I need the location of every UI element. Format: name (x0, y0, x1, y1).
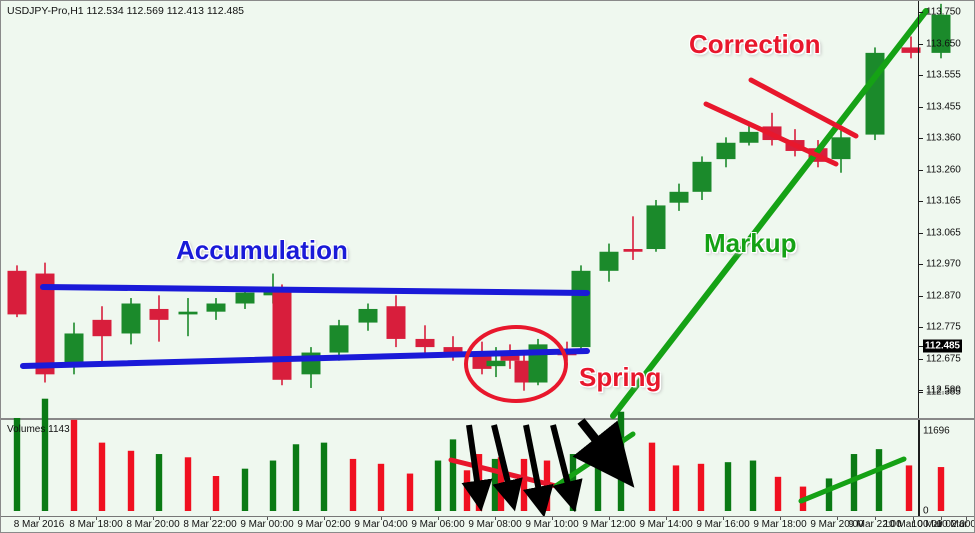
price-axis-label: 113.165 (926, 196, 961, 207)
time-axis-label: 9 Mar 12:00 (582, 519, 635, 530)
price-axis-label: 113.260 (926, 165, 961, 176)
annotation-correction[interactable]: Correction (689, 29, 820, 60)
volume-bar (99, 443, 105, 511)
candlestick (717, 137, 736, 167)
candlestick (273, 284, 292, 385)
volume-bar (826, 478, 832, 511)
price-axis-label: 113.360 (926, 133, 961, 144)
volume-bar (42, 399, 48, 511)
time-axis-label: 9 Mar 16:00 (696, 519, 749, 530)
price-axis-label: 113.650 (926, 39, 961, 50)
price-tick (918, 233, 923, 234)
price-tick (918, 327, 923, 328)
time-axis-label: 9 Mar 02:00 (297, 519, 350, 530)
time-axis-label: 10 Mar 04:00 (937, 519, 975, 530)
volume-bar (350, 459, 356, 511)
volume-bar (185, 457, 191, 511)
annotation-markup[interactable]: Markup (704, 228, 796, 259)
price-axis[interactable]: 113.750113.650113.555113.455113.360113.2… (918, 1, 975, 418)
time-axis-label: 9 Mar 04:00 (354, 519, 407, 530)
chart-title: USDJPY-Pro,H1 112.534 112.569 112.413 11… (7, 5, 244, 17)
price-tick (918, 264, 923, 265)
candlestick (572, 265, 591, 352)
volume-bar (750, 461, 756, 511)
volume-bar (498, 457, 504, 511)
candlestick (359, 304, 378, 331)
price-tick (918, 170, 923, 171)
trading-chart-window: USDJPY-Pro,H1 112.534 112.569 112.413 11… (0, 0, 975, 533)
price-axis-label: 112.870 (926, 291, 961, 302)
price-tick (918, 44, 923, 45)
price-tick (918, 107, 923, 108)
candlestick (600, 244, 619, 282)
time-axis-label: 9 Mar 14:00 (639, 519, 692, 530)
volume-bar (378, 464, 384, 511)
time-axis[interactable]: 8 Mar 20168 Mar 18:008 Mar 20:008 Mar 22… (1, 516, 975, 533)
volume-bar (476, 454, 482, 511)
price-axis-line (918, 1, 919, 418)
candlestick (207, 298, 226, 320)
time-axis-label: 8 Mar 18:00 (69, 519, 122, 530)
price-axis-label: 113.065 (926, 228, 961, 239)
price-plot-area[interactable] (1, 1, 918, 420)
volume-axis-label: 0 (923, 506, 928, 517)
volume-bar (242, 469, 248, 511)
candlestick (93, 306, 112, 366)
volume-bar (128, 451, 134, 511)
price-tick (918, 75, 923, 76)
volume-bar (293, 444, 299, 511)
volume-bar (775, 477, 781, 511)
volume-bar (156, 454, 162, 511)
price-tick (918, 12, 923, 13)
volume-bar (673, 465, 679, 511)
volume-axis-label: 11696 (923, 426, 950, 437)
candlestick (670, 184, 689, 211)
candlestick (529, 339, 548, 385)
candlestick (473, 342, 492, 375)
annotation-accumulation[interactable]: Accumulation (176, 235, 348, 266)
price-tick (918, 201, 923, 202)
candlestick (866, 47, 885, 140)
current-price-label: 112.485 (923, 340, 962, 353)
time-axis-label: 9 Mar 06:00 (411, 519, 464, 530)
price-axis-label: 112.385 (926, 387, 961, 398)
candlestick (832, 129, 851, 173)
price-axis-label: 113.555 (926, 70, 961, 81)
accumulation-upper-trendline[interactable] (43, 287, 587, 293)
volume-bar (213, 476, 219, 511)
volume-bar (698, 464, 704, 511)
time-axis-label: 8 Mar 22:00 (183, 519, 236, 530)
volume-bar (71, 420, 77, 511)
volume-bar (464, 470, 470, 511)
volume-bar (649, 443, 655, 511)
price-tick (918, 138, 923, 139)
volume-bar (906, 465, 912, 511)
price-tick (918, 390, 923, 391)
price-axis-label: 112.675 (926, 354, 961, 365)
volume-bar (321, 443, 327, 511)
candlestick-series (8, 4, 951, 391)
candlestick (150, 295, 169, 341)
time-axis-label: 8 Mar 2016 (14, 519, 65, 530)
volume-bar (618, 412, 624, 511)
price-tick (918, 359, 923, 360)
volume-bar (521, 459, 527, 511)
price-tick (918, 296, 923, 297)
price-axis-label: 112.775 (926, 322, 961, 333)
time-axis-label: 9 Mar 10:00 (525, 519, 578, 530)
candlestick (416, 325, 435, 355)
time-axis-label: 8 Mar 20:00 (126, 519, 179, 530)
volume-bar (270, 461, 276, 511)
price-axis-label: 112.970 (926, 259, 961, 270)
price-tick (918, 392, 923, 393)
volume-bar (407, 474, 413, 511)
volume-bar (570, 454, 576, 511)
volume-bar (450, 439, 456, 511)
candlestick (8, 265, 27, 317)
candlestick (302, 347, 321, 388)
time-axis-label: 9 Mar 08:00 (468, 519, 521, 530)
candlestick (179, 298, 198, 336)
candlestick (693, 156, 712, 200)
volume-bar (435, 461, 441, 511)
volume-bar (492, 459, 498, 511)
price-chart-panel[interactable]: USDJPY-Pro,H1 112.534 112.569 112.413 11… (1, 1, 975, 420)
candlestick (387, 295, 406, 347)
time-axis-label: 9 Mar 18:00 (753, 519, 806, 530)
volume-bar (725, 462, 731, 511)
candlestick (647, 200, 666, 252)
price-axis-label: 113.750 (926, 7, 961, 18)
time-axis-label: 9 Mar 00:00 (240, 519, 293, 530)
annotation-spring[interactable]: Spring (579, 362, 661, 393)
price-drawing-objects[interactable] (23, 11, 926, 416)
candlestick (624, 216, 643, 260)
price-axis-label: 113.455 (926, 102, 961, 113)
volume-indicator-label: Volumes 1143 (7, 424, 70, 435)
candlestick (122, 298, 141, 344)
volume-bar (876, 449, 882, 511)
